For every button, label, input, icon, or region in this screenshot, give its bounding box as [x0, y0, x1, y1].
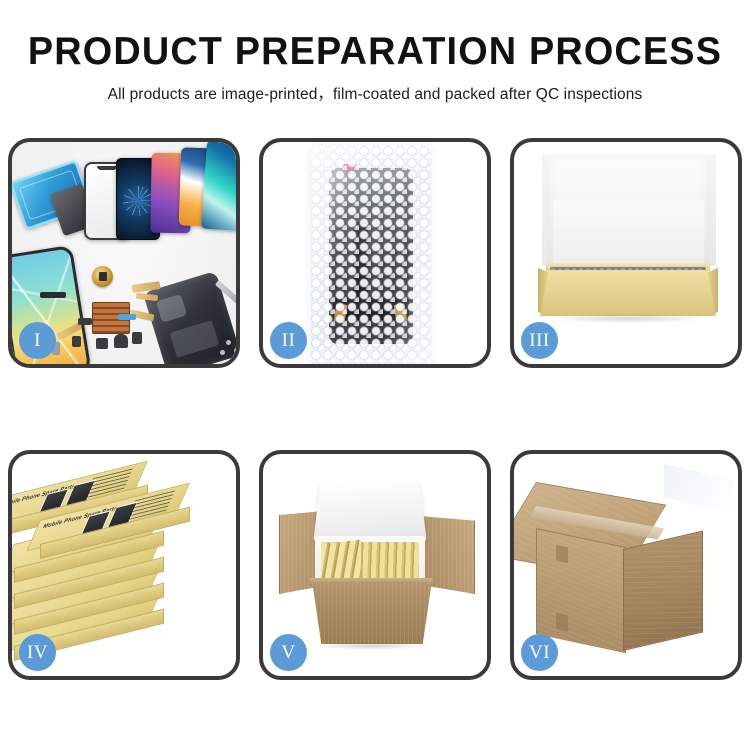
process-step-4[interactable]: Mobile Phone Spare Parts Mobile Phone Sp… [8, 450, 240, 680]
carton-seam-top [556, 545, 568, 564]
step-badge-1: I [19, 322, 56, 359]
page-subtitle: All products are image-printed，film-coat… [0, 82, 750, 104]
retail-box-labelled-front: Mobile Phone Spare Parts [40, 520, 188, 556]
screw-b [234, 348, 236, 353]
process-step-grid: I II [8, 138, 742, 680]
carton-seam-bottom [556, 613, 568, 632]
process-step-1[interactable]: I [8, 138, 240, 368]
page-header: PRODUCT PREPARATION PROCESS All products… [0, 0, 750, 104]
speaker-mesh-part [40, 292, 66, 298]
gold-boxes-row-angled [321, 540, 361, 585]
step-badge-5: V [270, 634, 307, 671]
page-title: PRODUCT PREPARATION PROCESS [11, 32, 739, 73]
chip-d [132, 332, 142, 344]
process-step-2[interactable]: II [259, 138, 491, 368]
cardboard-texture [537, 529, 625, 652]
white-foam-sheet [554, 200, 704, 272]
camera-module [114, 334, 128, 348]
chip-a [78, 318, 92, 325]
drop-shadow [548, 314, 708, 323]
step-badge-2: II [270, 322, 307, 359]
carton-right-face [623, 531, 703, 651]
carton-body [307, 582, 437, 644]
teal-swirl-phone [201, 142, 236, 231]
foam-insert-lid [313, 481, 427, 544]
chip-b [72, 336, 81, 347]
screw-c [220, 350, 225, 355]
cardboard-texture [308, 582, 436, 644]
process-step-3[interactable]: III [510, 138, 742, 368]
step-badge-6: VI [521, 634, 558, 671]
chip-c [96, 338, 108, 349]
copper-coil-part [92, 266, 113, 287]
process-step-6[interactable]: VI [510, 450, 742, 680]
drop-shadow [315, 642, 427, 650]
plastic-gloss [311, 146, 431, 364]
connector-part [118, 314, 136, 320]
step-badge-3: III [521, 322, 558, 359]
bubble-wrap-bag [311, 146, 431, 364]
process-step-5[interactable]: V [259, 450, 491, 680]
screw-a [226, 340, 231, 345]
cardboard-texture [624, 532, 702, 650]
screen-rays [123, 186, 153, 216]
background-gloss [664, 463, 734, 514]
yellow-box-tray [540, 270, 716, 316]
step-badge-4: IV [19, 634, 56, 671]
carton-left-face [536, 528, 626, 653]
